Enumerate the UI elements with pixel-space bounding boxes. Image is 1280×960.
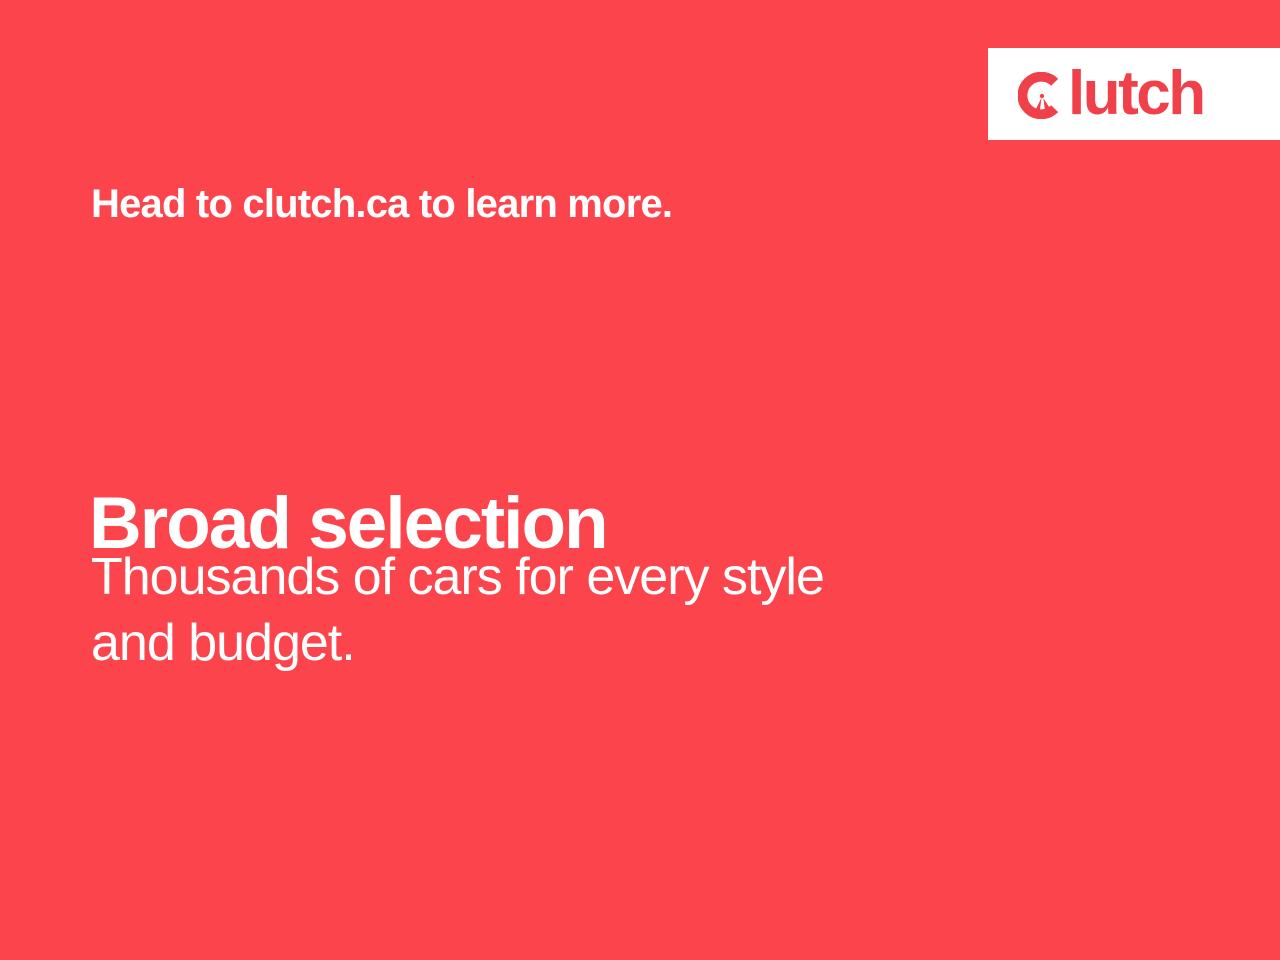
headline-cta: Head to clutch.ca to learn more. bbox=[91, 180, 672, 228]
clutch-logo-badge[interactable]: lutch bbox=[988, 48, 1280, 140]
subtitle-line-1: Thousands of cars for every style bbox=[91, 545, 1051, 611]
slide-canvas: lutch Head to clutch.ca to learn more. B… bbox=[0, 0, 1280, 960]
clutch-c-wheel-icon bbox=[1018, 72, 1065, 119]
clutch-wordmark: lutch bbox=[1068, 63, 1204, 125]
logo-lockup: lutch bbox=[1018, 63, 1204, 125]
slide-subtitle: Thousands of cars for every style and bu… bbox=[91, 545, 1051, 676]
subtitle-line-2: and budget. bbox=[91, 611, 1051, 677]
